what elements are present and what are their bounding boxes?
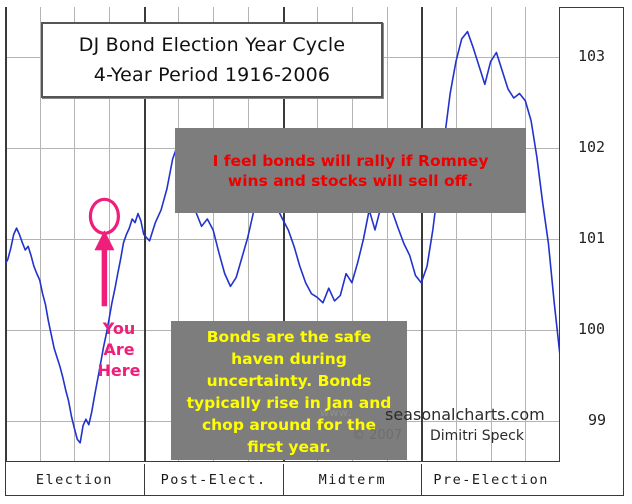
x-axis-category-label: Post-Elect. [161, 472, 267, 488]
chart-title-line1: DJ Bond Election Year Cycle [79, 34, 346, 56]
watermark-copyright: © 2007 [352, 428, 402, 443]
x-axis-category-midterm: Midterm [283, 464, 422, 496]
yellow-note-line2: haven during [231, 348, 347, 370]
x-axis-category-pre-election: Pre-Election [421, 464, 560, 496]
chart-title-line2: 4-Year Period 1916-2006 [94, 64, 330, 86]
watermark-site: seasonalcharts.com [385, 405, 545, 424]
yah-line1: You [90, 318, 148, 339]
y-axis-tick-label: 102 [578, 138, 605, 156]
yellow-note-line1: Bonds are the safe [207, 326, 372, 348]
y-axis-tick-label: 101 [578, 229, 605, 247]
x-axis-category-label: Pre-Election [433, 472, 549, 488]
red-note-line1: I feel bonds will rally if Romney [213, 151, 489, 171]
watermark-prefix: www. [320, 406, 351, 419]
yellow-note-line3: uncertainty. Bonds [207, 370, 372, 392]
chart-screenshot: 99100101102103 ElectionPost-Elect.Midter… [0, 0, 632, 504]
annotation-red-note: I feel bonds will rally if Romney wins a… [175, 128, 526, 213]
yellow-note-line4: typically rise in Jan and [187, 392, 392, 414]
yellow-note-line6: first year. [247, 436, 331, 458]
x-axis-category-label: Midterm [319, 472, 386, 488]
y-axis-tick-label: 100 [578, 320, 605, 338]
watermark-author: Dimitri Speck [430, 428, 524, 444]
y-axis-tick-label: 103 [578, 47, 605, 65]
x-axis-category-label: Election [36, 472, 113, 488]
chart-title-box: DJ Bond Election Year Cycle 4-Year Perio… [41, 22, 383, 98]
red-note-line2: wins and stocks will sell off. [228, 171, 473, 191]
x-axis-category-post-elect: Post-Elect. [144, 464, 283, 496]
yah-line3: Here [90, 360, 148, 381]
yah-line2: Are [90, 339, 148, 360]
you-are-here-label: You Are Here [90, 318, 148, 381]
x-axis-category-election: Election [5, 464, 144, 496]
y-axis-tick-label: 99 [588, 411, 606, 429]
x-axis-labels: ElectionPost-Elect.MidtermPre-Election [5, 464, 560, 496]
